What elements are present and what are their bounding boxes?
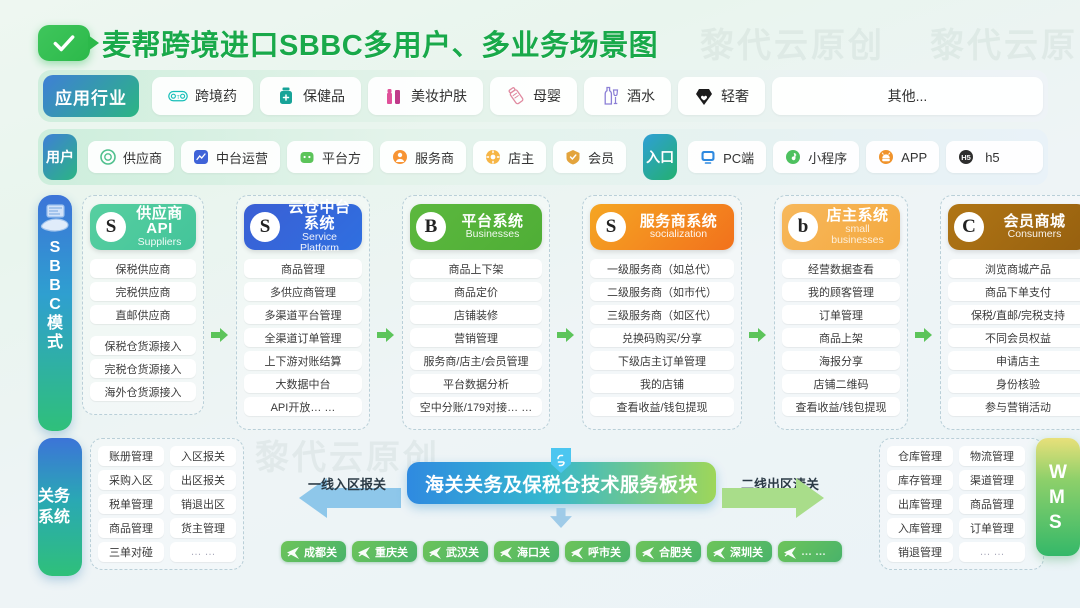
list-item[interactable]: 完税供应商 (90, 282, 196, 301)
industry-bar: 应用行业 T 跨境药 保健品 美妆护肤 母婴 (38, 70, 1080, 122)
list-item[interactable]: 直邮供应商 (90, 305, 196, 324)
cloud-commerce-icon (38, 201, 72, 235)
wms-section: 仓库管理 物流管理 库存管理 渠道管理 出库管理 商品管理 入库管理 订单管理 … (879, 438, 1080, 570)
list-item[interactable]: 采购入区 (98, 470, 164, 490)
list-item[interactable]: 兑换码购买/分享 (590, 328, 734, 347)
industry-chip-alcohol[interactable]: 酒水 (584, 77, 671, 115)
column-header: S 服务商系统 socialization (590, 204, 734, 250)
console-icon (193, 149, 209, 165)
list-item[interactable]: 商品管理 (244, 259, 362, 278)
user-bar-label: 用户 (43, 134, 77, 180)
svg-text:T: T (176, 95, 180, 101)
column-businesses: B 平台系统 Businesses 商品上下架 商品定价 店铺装修 营销管理 服… (402, 195, 550, 430)
list-item[interactable]: 渠道管理 (959, 470, 1025, 490)
list-item[interactable]: 出库管理 (887, 494, 953, 514)
shopowner-icon (485, 149, 501, 165)
page-header: 麦帮跨境进口SBBC多用户、多业务场景图 (0, 0, 1080, 70)
column-service-platform: S 云仓中台系统 Service Platform 商品管理 多供应商管理 多渠… (236, 195, 370, 430)
column-title-cn: 云仓中台系统 (287, 200, 352, 232)
entry-chip-label: h5 (985, 150, 999, 165)
flow-label-left: 一线入区报关 (308, 474, 386, 493)
list-item[interactable]: 身份核验 (948, 374, 1080, 393)
industry-chip-otc[interactable]: T 跨境药 (152, 77, 253, 115)
list-item[interactable]: 店铺二维码 (782, 374, 900, 393)
list-item[interactable]: 保税仓货源接入 (90, 336, 196, 355)
sbbc-rail-letters: SBBC模式 (47, 238, 63, 352)
industry-chip-label: 其他... (888, 86, 928, 106)
system-columns: S 供应商API Suppliers 保税供应商 完税供应商 直邮供应商 保税仓… (82, 195, 1080, 430)
industry-chip-label: 美妆护肤 (411, 86, 467, 106)
list-item[interactable]: … … (170, 542, 236, 562)
outbound-arrow-icon (722, 476, 826, 520)
customs-plane-icon (783, 545, 797, 559)
list-item[interactable]: 参与营销活动 (948, 397, 1080, 416)
customs-plane-icon (286, 545, 300, 559)
port-label: … … (801, 546, 826, 558)
column-letter-badge: S (96, 212, 126, 242)
list-item[interactable]: 商品管理 (98, 518, 164, 538)
user-chip-label: 供应商 (123, 148, 162, 167)
svg-text:H5: H5 (961, 153, 971, 162)
list-item[interactable]: 多渠道平台管理 (244, 305, 362, 324)
column-title-cn: 店主系统 (825, 208, 890, 224)
customs-plane-icon (428, 545, 442, 559)
page-title: 麦帮跨境进口SBBC多用户、多业务场景图 (102, 22, 658, 64)
column-suppliers: S 供应商API Suppliers 保税供应商 完税供应商 直邮供应商 保税仓… (82, 195, 204, 415)
list-item[interactable]: 我的店铺 (590, 374, 734, 393)
port-label: 呼市关 (588, 544, 621, 560)
list-item[interactable]: 海报分享 (782, 351, 900, 370)
list-item[interactable]: 三级服务商（如区代） (590, 305, 734, 324)
customs-wms-section: 关务系统 账册管理 入区报关 采购入区 出区报关 税单管理 销退出区 商品管理 … (38, 438, 1080, 576)
column-title-en: Service Platform (287, 232, 352, 254)
industry-chip-label: 跨境药 (195, 86, 237, 106)
wms-rail-label: WMS (1049, 460, 1067, 535)
baby-bottle-icon (506, 86, 526, 106)
list-item[interactable]: … … (959, 542, 1025, 562)
list-item[interactable]: 商品上架 (782, 328, 900, 347)
link-icon (548, 446, 574, 472)
user-chip-label: 店主 (508, 148, 534, 167)
list-item[interactable]: 二级服务商（如市代） (590, 282, 734, 301)
list-item[interactable]: 店铺装修 (410, 305, 542, 324)
list-item[interactable]: 服务商/店主/会员管理 (410, 351, 542, 370)
column-header: C 会员商城 Consumers (948, 204, 1080, 250)
list-item[interactable]: 不同会员权益 (948, 328, 1080, 347)
list-item[interactable]: 三单对碰 (98, 542, 164, 562)
list-item[interactable]: 大数据中台 (244, 374, 362, 393)
entry-chip-label: 小程序 (808, 148, 847, 167)
list-item[interactable]: 仓库管理 (887, 446, 953, 466)
column-consumers: C 会员商城 Consumers 浏览商城产品 商品下单支付 保税/直邮/完税支… (940, 195, 1080, 430)
port-label: 海口关 (517, 544, 550, 560)
port-chip[interactable]: 合肥关 (636, 541, 701, 562)
column-title-en: Businesses (453, 229, 532, 240)
port-chip[interactable]: 武汉关 (423, 541, 488, 562)
column-letter-badge: C (954, 212, 984, 242)
list-item[interactable]: 商品上下架 (410, 259, 542, 278)
h5-icon: H5 (958, 149, 974, 165)
port-chip[interactable]: … … (778, 541, 842, 562)
platform-icon (299, 149, 315, 165)
down-arrow-icon (407, 508, 716, 533)
port-chip[interactable]: 深圳关 (707, 541, 772, 562)
column-letter-badge: b (788, 212, 818, 242)
industry-chip-label: 轻奢 (721, 86, 749, 106)
list-item[interactable]: 营销管理 (410, 328, 542, 347)
entry-chip-h5[interactable]: H5 h5 (946, 141, 1043, 173)
column-letter-badge: S (250, 212, 280, 242)
list-item[interactable]: 空中分账/179对接… … (410, 397, 542, 416)
port-label: 重庆关 (375, 544, 408, 560)
list-item[interactable]: 浏览商城产品 (948, 259, 1080, 278)
industry-chip-other[interactable]: 其他... (772, 77, 1043, 115)
port-chip[interactable]: 呼市关 (565, 541, 630, 562)
user-chip-label: 会员 (588, 148, 614, 167)
column-title-cn: 服务商系统 (633, 214, 724, 230)
flow-arrow-icon (556, 327, 576, 343)
entry-bar-label-text: 入口 (646, 149, 674, 165)
list-item[interactable]: 账册管理 (98, 446, 164, 466)
column-header: b 店主系统 small businesses (782, 204, 900, 250)
column-title-cn: 平台系统 (453, 214, 532, 230)
list-item[interactable]: 一级服务商（如总代） (590, 259, 734, 278)
user-chip-label: 中台运营 (216, 148, 268, 167)
list-item[interactable]: 我的顾客管理 (782, 282, 900, 301)
list-item[interactable]: API开放… … (244, 397, 362, 416)
column-letter-badge: S (596, 212, 626, 242)
flow-arrow-icon (210, 327, 230, 343)
list-item[interactable]: 海外仓货源接入 (90, 382, 196, 401)
column-title-en: Consumers (991, 229, 1078, 240)
industry-chip-label: 保健品 (303, 86, 345, 106)
industry-chip-beauty[interactable]: 美妆护肤 (368, 77, 483, 115)
port-chip[interactable]: 重庆关 (352, 541, 417, 562)
customs-plane-icon (641, 545, 655, 559)
list-item[interactable]: 商品定价 (410, 282, 542, 301)
user-chip-service[interactable]: 服务商 (380, 141, 466, 173)
miniprogram-icon (785, 149, 801, 165)
user-chip-shopowner[interactable]: 店主 (473, 141, 546, 173)
industry-chip-label: 酒水 (627, 86, 655, 106)
list-item[interactable]: 平台数据分析 (410, 374, 542, 393)
monitor-icon (700, 149, 716, 165)
supplement-bottle-icon (276, 86, 296, 106)
customs-plane-icon (712, 545, 726, 559)
industry-chip-label: 母婴 (533, 86, 561, 106)
list-item[interactable]: 入区报关 (170, 446, 236, 466)
industry-chip-baby[interactable]: 母婴 (490, 77, 577, 115)
supplier-icon (100, 149, 116, 165)
entry-chip-miniprogram[interactable]: 小程序 (773, 141, 859, 173)
customs-plane-icon (499, 545, 513, 559)
user-chip-platform[interactable]: 平台方 (287, 141, 373, 173)
list-item[interactable]: 商品下单支付 (948, 282, 1080, 301)
user-chip-label: 平台方 (322, 148, 361, 167)
list-item[interactable]: 保税/直邮/完税支持 (948, 305, 1080, 324)
list-item[interactable]: 查看收益/钱包提现 (782, 397, 900, 416)
list-item[interactable]: 货主管理 (170, 518, 236, 538)
otc-icon: T (168, 86, 188, 106)
list-item[interactable]: 商品管理 (959, 494, 1025, 514)
column-header: S 云仓中台系统 Service Platform (244, 204, 362, 250)
user-chip-member[interactable]: 会员 (553, 141, 626, 173)
sbbc-mode-rail: SBBC模式 (38, 195, 72, 431)
entry-chip-label: PC端 (723, 148, 754, 167)
port-label: 武汉关 (446, 544, 479, 560)
android-icon (878, 149, 894, 165)
customs-system-rail: 关务系统 (38, 438, 82, 576)
list-item[interactable]: 入库管理 (887, 518, 953, 538)
customs-plane-icon (357, 545, 371, 559)
industry-bar-label: 应用行业 (43, 75, 139, 117)
column-title-en: small businesses (825, 224, 890, 246)
wine-bottle-icon (600, 86, 620, 106)
list-item[interactable]: 出区报关 (170, 470, 236, 490)
list-item[interactable]: 库存管理 (887, 470, 953, 490)
list-item[interactable]: 订单管理 (959, 518, 1025, 538)
column-title-en: Suppliers (133, 237, 186, 248)
column-title-en: socialization (633, 229, 724, 240)
entry-chip-label: APP (901, 150, 927, 165)
port-label: 成都关 (304, 544, 337, 560)
wms-rail: WMS (1036, 438, 1080, 556)
customs-rail-label: 关务系统 (38, 486, 82, 528)
customs-plane-icon (570, 545, 584, 559)
list-item[interactable]: 申请店主 (948, 351, 1080, 370)
port-label: 深圳关 (730, 544, 763, 560)
lipstick-icon (384, 86, 404, 106)
column-small-businesses: b 店主系统 small businesses 经营数据查看 我的顾客管理 订单… (774, 195, 908, 430)
list-item[interactable]: 保税供应商 (90, 259, 196, 278)
user-entry-bar: 用户 供应商 中台运营 平台方 服务商 (38, 129, 1080, 185)
entry-bar-label: 入口 (643, 134, 677, 180)
user-chip-console[interactable]: 中台运营 (181, 141, 280, 173)
user-chip-label: 服务商 (415, 148, 454, 167)
member-icon (565, 149, 581, 165)
column-header: B 平台系统 Businesses (410, 204, 542, 250)
check-badge-icon (38, 25, 90, 61)
list-item[interactable]: 订单管理 (782, 305, 900, 324)
list-item[interactable]: 销退出区 (170, 494, 236, 514)
list-item[interactable]: 多供应商管理 (244, 282, 362, 301)
entry-chip-pc[interactable]: PC端 (688, 141, 766, 173)
user-chip-supplier[interactable]: 供应商 (88, 141, 174, 173)
column-title-cn: 供应商API (133, 206, 186, 238)
industry-chip-luxury[interactable]: 轻奢 (678, 77, 765, 115)
list-item[interactable]: 全渠道订单管理 (244, 328, 362, 347)
diamond-heart-icon (694, 86, 714, 106)
column-title-cn: 会员商城 (991, 214, 1078, 230)
list-item[interactable]: 完税仓货源接入 (90, 359, 196, 378)
column-header: S 供应商API Suppliers (90, 204, 196, 250)
column-letter-badge: B (416, 212, 446, 242)
list-item[interactable]: 物流管理 (959, 446, 1025, 466)
column-socialization: S 服务商系统 socialization 一级服务商（如总代） 二级服务商（如… (582, 195, 742, 430)
list-item[interactable]: 税单管理 (98, 494, 164, 514)
port-chip[interactable]: 海口关 (494, 541, 559, 562)
list-item[interactable]: 销退管理 (887, 542, 953, 562)
port-label: 合肥关 (659, 544, 692, 560)
customs-flow-center: 一线入区报关 海关关务及保税仓技术服务板块 二线出区清关 成都关 重庆关 武汉关… (244, 438, 879, 562)
industry-chip-supplement[interactable]: 保健品 (260, 77, 361, 115)
flow-arrow-icon (748, 327, 768, 343)
port-chip[interactable]: 成都关 (281, 541, 346, 562)
list-item[interactable]: 上下游对账结算 (244, 351, 362, 370)
list-item[interactable]: 下级店主订单管理 (590, 351, 734, 370)
sbbc-stage: SBBC模式 S 供应商API Suppliers 保税供应商 完税供应商 直邮… (38, 195, 1080, 431)
list-item[interactable]: 查看收益/钱包提现 (590, 397, 734, 416)
flow-arrow-icon (376, 327, 396, 343)
flow-arrow-icon (914, 327, 934, 343)
customs-items-panel: 账册管理 入区报关 采购入区 出区报关 税单管理 销退出区 商品管理 货主管理 … (90, 438, 244, 570)
entry-chip-app[interactable]: APP (866, 141, 939, 173)
wms-items-panel: 仓库管理 物流管理 库存管理 渠道管理 出库管理 商品管理 入库管理 订单管理 … (879, 438, 1044, 570)
user-bar-label-text: 用户 (46, 149, 74, 165)
list-item[interactable]: 经营数据查看 (782, 259, 900, 278)
customs-ports-list: 成都关 重庆关 武汉关 海口关 呼市关 合肥关 深圳关 … … (281, 541, 842, 562)
service-icon (392, 149, 408, 165)
